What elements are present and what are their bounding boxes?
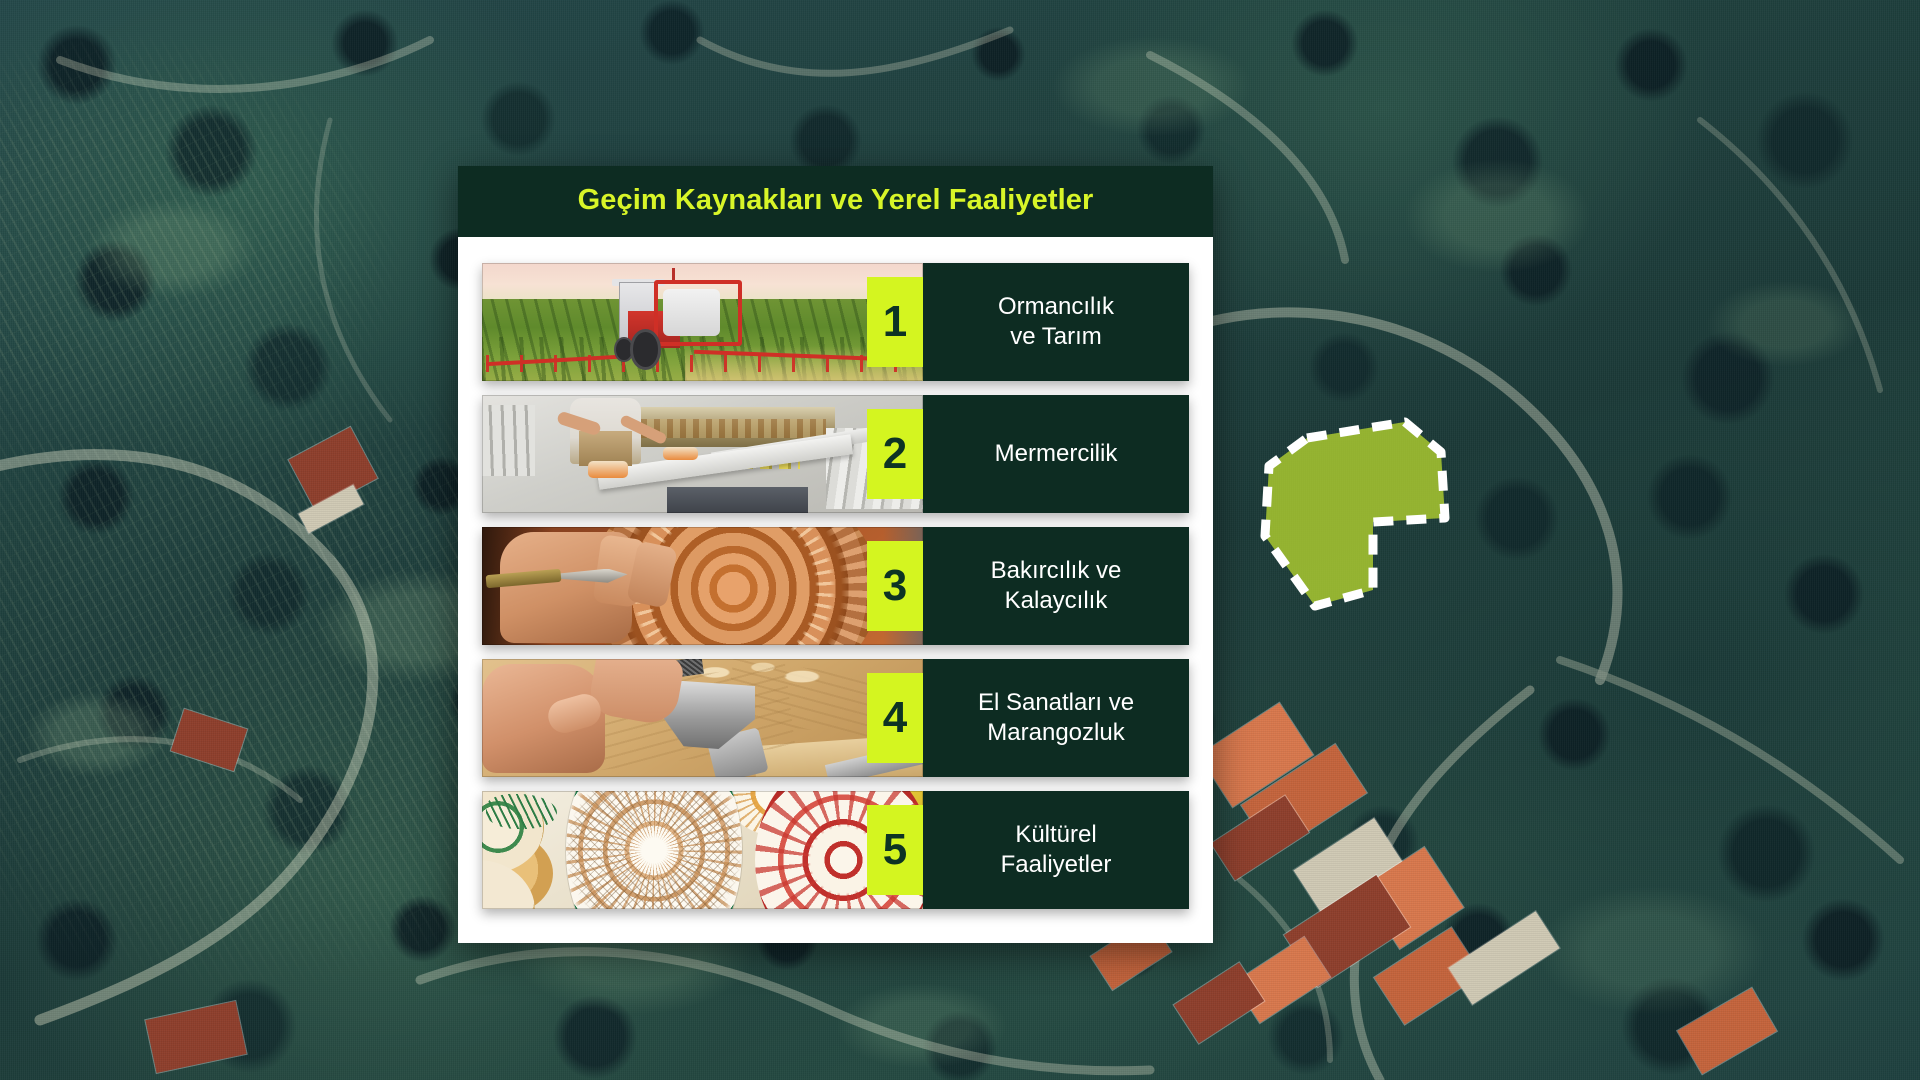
- panel-body: 1 Ormancılık ve Tarım: [458, 237, 1213, 943]
- info-panel: Geçim Kaynakları ve Yerel Faaliyetler 1: [458, 166, 1213, 943]
- item-label: El Sanatları ve Marangozluk: [923, 659, 1189, 777]
- item-number-badge: 5: [867, 805, 923, 895]
- item-thumbnail-forestry-agriculture: 1: [482, 263, 923, 381]
- thumbnail-border: [482, 395, 923, 513]
- list-item[interactable]: 2 Mermercilik: [482, 395, 1189, 513]
- list-item[interactable]: 4 El Sanatları ve Marangozluk: [482, 659, 1189, 777]
- item-label: Mermercilik: [923, 395, 1189, 513]
- item-label-line1: El Sanatları ve: [978, 689, 1134, 716]
- list-item[interactable]: 5 Kültürel Faaliyetler: [482, 791, 1189, 909]
- item-number-badge: 3: [867, 541, 923, 631]
- panel-header: Geçim Kaynakları ve Yerel Faaliyetler: [458, 166, 1213, 237]
- item-label-line1: Mermercilik: [995, 439, 1118, 469]
- item-number-badge: 1: [867, 277, 923, 367]
- item-label-line2: Kalaycılık: [1005, 587, 1108, 614]
- thumbnail-border: [482, 791, 923, 909]
- thumbnail-border: [482, 263, 923, 381]
- item-label: Ormancılık ve Tarım: [923, 263, 1189, 381]
- list-item[interactable]: 3 Bakırcılık ve Kalaycılık: [482, 527, 1189, 645]
- item-label: Bakırcılık ve Kalaycılık: [923, 527, 1189, 645]
- map-background[interactable]: Geçim Kaynakları ve Yerel Faaliyetler 1: [0, 0, 1920, 1080]
- item-label-line2: Marangozluk: [987, 719, 1124, 746]
- thumbnail-border: [482, 659, 923, 777]
- item-label: Kültürel Faaliyetler: [923, 791, 1189, 909]
- item-label-line1: Ormancılık: [998, 293, 1114, 320]
- item-label-line2: Faaliyetler: [1001, 851, 1112, 878]
- item-thumbnail-marble: 2: [482, 395, 923, 513]
- thumbnail-border: [482, 527, 923, 645]
- item-thumbnail-coppersmithing: 3: [482, 527, 923, 645]
- page-title: Geçim Kaynakları ve Yerel Faaliyetler: [458, 184, 1213, 217]
- item-label-line2: ve Tarım: [1010, 323, 1102, 350]
- item-number-badge: 4: [867, 673, 923, 763]
- item-label-line1: Kültürel: [1015, 821, 1096, 848]
- item-thumbnail-handicrafts-carpentry: 4: [482, 659, 923, 777]
- item-number-badge: 2: [867, 409, 923, 499]
- item-label-line1: Bakırcılık ve: [991, 557, 1122, 584]
- list-item[interactable]: 1 Ormancılık ve Tarım: [482, 263, 1189, 381]
- item-thumbnail-cultural-activities: 5: [482, 791, 923, 909]
